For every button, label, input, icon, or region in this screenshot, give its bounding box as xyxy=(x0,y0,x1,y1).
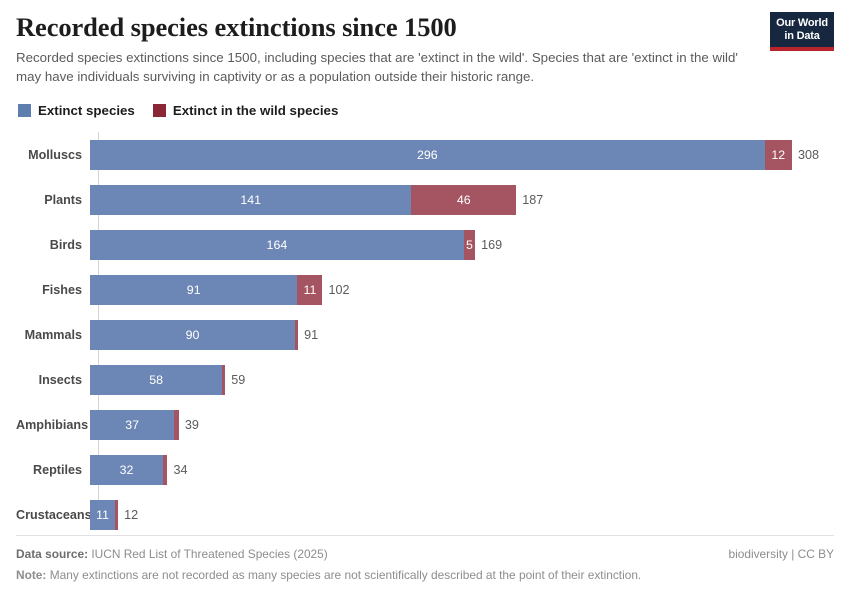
chart-subtitle: Recorded species extinctions since 1500,… xyxy=(16,49,746,87)
bar-segment-extinct-in-the-wild-species[interactable]: 2 xyxy=(174,410,179,440)
chart-header: Recorded species extinctions since 1500 … xyxy=(16,0,834,87)
bar-row[interactable]: Molluscs29612308 xyxy=(16,132,834,177)
attribution[interactable]: biodiversity | CC BY xyxy=(728,545,834,563)
bar-segment-extinct-species[interactable]: 90 xyxy=(90,320,295,350)
bar-row-label: Mammals xyxy=(16,328,90,342)
chart-legend: Extinct species Extinct in the wild spec… xyxy=(16,103,834,118)
bar-row[interactable]: Insects58159 xyxy=(16,357,834,402)
bar-segment-extinct-species[interactable]: 296 xyxy=(90,140,765,170)
bar-total-value: 34 xyxy=(173,463,187,477)
bar-segment-extinct-species[interactable]: 32 xyxy=(90,455,163,485)
bar-row-label: Plants xyxy=(16,193,90,207)
bar-segment-extinct-in-the-wild-species[interactable]: 1 xyxy=(295,320,298,350)
bar-total-value: 102 xyxy=(328,283,349,297)
data-source-label: Data source: xyxy=(16,547,88,561)
footer-source-row: Data source: IUCN Red List of Threatened… xyxy=(16,545,834,563)
note-label: Note: xyxy=(16,568,46,582)
legend-swatch-icon xyxy=(153,104,166,117)
bar-row-label: Reptiles xyxy=(16,463,90,477)
bar-segment-extinct-species[interactable]: 58 xyxy=(90,365,222,395)
bar-segment-extinct-species[interactable]: 37 xyxy=(90,410,174,440)
bar-rows: Molluscs29612308Plants14146187Birds16451… xyxy=(16,132,834,537)
bar-segment-value: 91 xyxy=(187,283,201,297)
legend-item-extinct-species[interactable]: Extinct species xyxy=(18,103,135,118)
our-world-in-data-logo[interactable]: Our World in Data xyxy=(770,12,834,51)
bar-row-label: Molluscs xyxy=(16,148,90,162)
bar-row[interactable]: Birds1645169 xyxy=(16,222,834,267)
bar-stack: 90191 xyxy=(90,320,834,350)
data-source-value: IUCN Red List of Threatened Species (202… xyxy=(91,547,327,561)
bar-segment-extinct-in-the-wild-species[interactable]: 11 xyxy=(297,275,322,305)
chart-footer: Data source: IUCN Red List of Threatened… xyxy=(16,535,834,584)
bar-row[interactable]: Reptiles32234 xyxy=(16,447,834,492)
bar-segment-extinct-in-the-wild-species[interactable]: 1 xyxy=(115,500,118,530)
bar-row[interactable]: Mammals90191 xyxy=(16,312,834,357)
bar-segment-extinct-in-the-wild-species[interactable]: 2 xyxy=(163,455,168,485)
bar-segment-extinct-in-the-wild-species[interactable]: 1 xyxy=(222,365,225,395)
bar-total-value: 169 xyxy=(481,238,502,252)
bar-row[interactable]: Amphibians37239 xyxy=(16,402,834,447)
bar-segment-extinct-in-the-wild-species[interactable]: 12 xyxy=(765,140,792,170)
bar-row-label: Birds xyxy=(16,238,90,252)
bar-total-value: 91 xyxy=(304,328,318,342)
bar-segment-extinct-species[interactable]: 141 xyxy=(90,185,411,215)
bar-segment-value: 32 xyxy=(120,463,134,477)
bar-stack: 1645169 xyxy=(90,230,834,260)
bar-stack: 9111102 xyxy=(90,275,834,305)
bar-segment-value: 11 xyxy=(304,283,317,297)
bar-row-label: Amphibians xyxy=(16,418,90,432)
bar-segment-extinct-species[interactable]: 11 xyxy=(90,500,115,530)
bar-row[interactable]: Fishes9111102 xyxy=(16,267,834,312)
bar-stack: 11112 xyxy=(90,500,834,530)
bar-row[interactable]: Crustaceans11112 xyxy=(16,492,834,537)
data-source: Data source: IUCN Red List of Threatened… xyxy=(16,545,328,563)
bar-row-label: Crustaceans xyxy=(16,508,90,522)
chart-page: Recorded species extinctions since 1500 … xyxy=(0,0,850,600)
bar-stack: 58159 xyxy=(90,365,834,395)
bar-segment-value: 164 xyxy=(267,238,288,252)
bar-stack: 29612308 xyxy=(90,140,834,170)
legend-swatch-icon xyxy=(18,104,31,117)
bar-segment-value: 46 xyxy=(457,193,471,207)
bar-segment-extinct-species[interactable]: 91 xyxy=(90,275,297,305)
bar-total-value: 187 xyxy=(522,193,543,207)
bar-segment-value: 296 xyxy=(417,148,438,162)
bar-segment-extinct-in-the-wild-species[interactable]: 5 xyxy=(464,230,475,260)
page-title: Recorded species extinctions since 1500 xyxy=(16,12,834,42)
bar-segment-value: 90 xyxy=(186,328,200,342)
bar-segment-value: 141 xyxy=(240,193,261,207)
legend-item-extinct-in-the-wild-species[interactable]: Extinct in the wild species xyxy=(153,103,339,118)
legend-label: Extinct species xyxy=(38,103,135,118)
bar-segment-value: 58 xyxy=(149,373,163,387)
bar-segment-value: 12 xyxy=(771,148,785,162)
chart-plot-area: Molluscs29612308Plants14146187Birds16451… xyxy=(16,132,834,517)
bar-stack: 37239 xyxy=(90,410,834,440)
bar-row-label: Fishes xyxy=(16,283,90,297)
bar-row-label: Insects xyxy=(16,373,90,387)
bar-total-value: 39 xyxy=(185,418,199,432)
bar-stack: 14146187 xyxy=(90,185,834,215)
bar-total-value: 308 xyxy=(798,148,819,162)
logo-line-2: in Data xyxy=(774,30,830,43)
note-value: Many extinctions are not recorded as man… xyxy=(50,568,642,582)
bar-segment-extinct-in-the-wild-species[interactable]: 46 xyxy=(411,185,516,215)
logo-line-1: Our World xyxy=(774,17,830,30)
bar-row[interactable]: Plants14146187 xyxy=(16,177,834,222)
footer-note-row: Note: Many extinctions are not recorded … xyxy=(16,566,834,584)
legend-label: Extinct in the wild species xyxy=(173,103,339,118)
bar-segment-value: 11 xyxy=(96,508,109,522)
bar-stack: 32234 xyxy=(90,455,834,485)
bar-total-value: 12 xyxy=(124,508,138,522)
bar-segment-value: 5 xyxy=(466,238,473,252)
bar-segment-value: 37 xyxy=(125,418,139,432)
bar-total-value: 59 xyxy=(231,373,245,387)
bar-segment-extinct-species[interactable]: 164 xyxy=(90,230,464,260)
